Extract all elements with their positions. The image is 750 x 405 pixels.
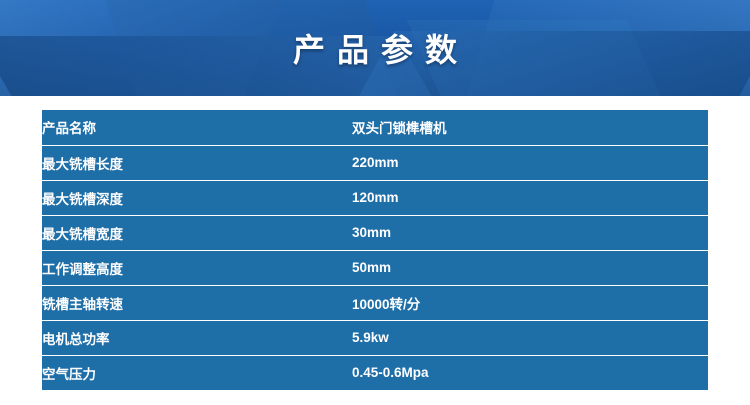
header-banner: 产品参数	[0, 0, 750, 96]
spec-value: 10000转/分	[352, 285, 708, 320]
spec-value: 5.9kw	[352, 320, 708, 355]
spec-value: 120mm	[352, 180, 708, 215]
spec-label: 最大铣槽宽度	[42, 215, 352, 250]
table-row: 最大铣槽深度 120mm	[42, 180, 708, 215]
table-row: 最大铣槽宽度 30mm	[42, 215, 708, 250]
spec-value: 双头门锁榫槽机	[352, 110, 708, 145]
spec-value: 50mm	[352, 250, 708, 285]
spec-label: 最大铣槽深度	[42, 180, 352, 215]
table-row: 铣槽主轴转速 10000转/分	[42, 285, 708, 320]
table-row: 工作调整高度 50mm	[42, 250, 708, 285]
spec-value: 30mm	[352, 215, 708, 250]
spec-label: 工作调整高度	[42, 250, 352, 285]
spec-label: 空气压力	[42, 355, 352, 390]
table-row: 电机总功率 5.9kw	[42, 320, 708, 355]
table-row: 空气压力 0.45-0.6Mpa	[42, 355, 708, 390]
spec-label: 产品名称	[42, 110, 352, 145]
table-row: 产品名称 双头门锁榫槽机	[42, 110, 708, 145]
spec-label: 最大铣槽长度	[42, 145, 352, 180]
page-title: 产品参数	[0, 0, 750, 96]
spec-value: 0.45-0.6Mpa	[352, 355, 708, 390]
spec-table: 产品名称 双头门锁榫槽机 最大铣槽长度 220mm 最大铣槽深度 120mm 最…	[42, 110, 708, 390]
spec-table-body: 产品名称 双头门锁榫槽机 最大铣槽长度 220mm 最大铣槽深度 120mm 最…	[42, 110, 708, 390]
table-row: 最大铣槽长度 220mm	[42, 145, 708, 180]
spec-label: 电机总功率	[42, 320, 352, 355]
product-spec-page: 产品参数 产品名称 双头门锁榫槽机 最大铣槽长度 220mm 最大铣槽深度 12…	[0, 0, 750, 405]
spec-label: 铣槽主轴转速	[42, 285, 352, 320]
spec-value: 220mm	[352, 145, 708, 180]
